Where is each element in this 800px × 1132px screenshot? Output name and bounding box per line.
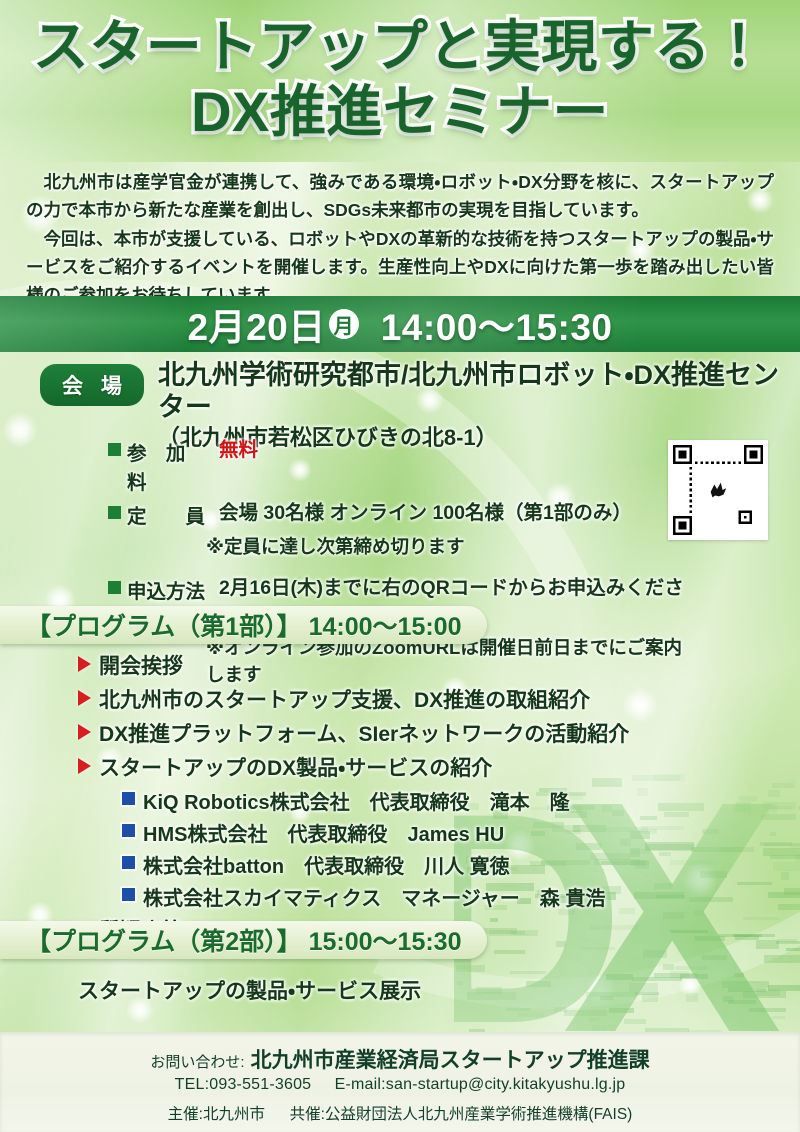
dx-pixel: [763, 802, 796, 809]
dx-pixel: [670, 860, 717, 865]
program-2-heading: 【プログラム（第2部）】 15:00〜15:30: [0, 921, 487, 959]
dx-pixel: [733, 804, 777, 813]
dx-pixel: [768, 985, 800, 992]
dx-pixel: [728, 1000, 756, 1004]
dx-pixel: [656, 895, 686, 898]
footer-contact-org: 北九州市産業経済局スタートアップ推進課: [251, 1044, 650, 1074]
square-bullet-icon: [122, 856, 135, 869]
dx-pixel: [494, 950, 525, 954]
dx-pixel: [635, 860, 649, 869]
dx-pixel: [637, 788, 648, 797]
dx-pixel: [735, 935, 759, 939]
dx-pixel: [695, 936, 724, 941]
detail-value-capacity: 会場 30名様 オンライン 100名様（第1部のみ）: [219, 500, 632, 528]
detail-row-capacity: 定 員 会場 30名様 オンライン 100名様（第1部のみ）: [108, 500, 688, 529]
dx-pixel: [723, 996, 734, 1002]
dx-pixel: [606, 974, 633, 980]
dx-pixel: [694, 910, 704, 916]
poster-header: スタートアップと実現する！ DX推進セミナー: [0, 0, 800, 162]
footer-cohost: 共催:公益財団法人北九州産業学術推進機構(FAIS): [290, 1106, 633, 1123]
venue-name: 北九州学術研究都市/北九州市ロボット・DX推進センター: [158, 360, 800, 424]
program-item-label: DX推進プラットフォーム、SIerネットワークの活動紹介: [99, 718, 629, 748]
dx-pixel: [720, 847, 754, 852]
sparkle: [678, 973, 702, 997]
dx-pixel: [739, 796, 757, 801]
triangle-marker-icon: [78, 656, 91, 672]
dx-pixel: [702, 955, 726, 960]
dx-pixel: [624, 1019, 646, 1024]
dx-pixel: [764, 955, 800, 963]
square-bullet-icon: [108, 581, 121, 594]
dx-pixel: [743, 991, 786, 998]
dx-pixel: [663, 964, 674, 970]
title-line-1: スタートアップと実現する！: [0, 0, 800, 75]
dx-pixel: [743, 917, 779, 920]
speaker-item: 株式会社batton 代表取締役 川人 寛徳: [122, 850, 629, 879]
program-item-label: 北九州市のスタートアップ支援、DX推進の取組紹介: [99, 684, 590, 714]
dx-pixel: [787, 779, 796, 783]
dx-pixel: [629, 983, 658, 992]
dx-pixel: [659, 852, 671, 855]
dx-pixel: [457, 981, 463, 985]
dx-pixel: [689, 897, 733, 902]
footer-host: 主催:北九州市: [168, 1106, 265, 1123]
intro-paragraph-1: 北九州市は産学官金が連携して、強みである環境・ロボット・DX分野を核に、スタート…: [26, 168, 774, 225]
program-item: スタートアップのDX製品・サービスの紹介: [78, 752, 629, 782]
square-bullet-icon: [108, 443, 121, 456]
qr-code[interactable]: [668, 440, 768, 540]
dx-pixel: [664, 812, 689, 817]
program-item-label: スタートアップのDX製品・サービスの紹介: [99, 752, 492, 782]
footer-tel: TEL:093-551-3605: [175, 1076, 312, 1093]
dx-pixel: [773, 862, 800, 871]
venue-badge: 会 場: [40, 364, 144, 406]
qr-code-image[interactable]: [673, 445, 763, 535]
footer-organizers: 主催:北九州市 共催:公益財団法人北九州産業学術推進機構(FAIS): [0, 1102, 800, 1124]
dx-pixel: [761, 814, 796, 819]
program-item: DX推進プラットフォーム、SIerネットワークの活動紹介: [78, 718, 629, 748]
dx-pixel: [609, 1008, 633, 1013]
dx-pixel: [772, 783, 795, 788]
speaker-label: 株式会社batton 代表取締役 川人 寛徳: [143, 850, 510, 879]
square-bullet-icon: [122, 888, 135, 901]
dx-pixel: [764, 806, 792, 810]
dx-pixel: [756, 940, 779, 949]
speaker-item: KiQ Robotics株式会社 代表取締役 滝本 隆: [122, 786, 629, 815]
dx-pixel: [456, 965, 485, 972]
dx-pixel: [670, 930, 708, 933]
speaker-list: KiQ Robotics株式会社 代表取締役 滝本 隆 HMS株式会社 代表取締…: [122, 786, 629, 911]
dx-pixel: [642, 994, 658, 1001]
dx-pixel: [645, 844, 695, 852]
dx-pixel: [630, 848, 639, 857]
speaker-item: 株式会社スカイマティクス マネージャー 森 貴浩: [122, 882, 629, 911]
dx-pixel: [506, 1008, 530, 1011]
bird-icon: [707, 479, 729, 501]
detail-row-fee: 参 加 料 無料: [108, 437, 688, 495]
dx-pixel: [658, 803, 704, 811]
dx-pixel: [686, 993, 698, 1002]
dx-pixel: [632, 977, 682, 981]
footer-contact-line: お問い合わせ: 北九州市産業経済局スタートアップ推進課: [0, 1032, 800, 1074]
program-item: 北九州市のスタートアップ支援、DX推進の取組紹介: [78, 684, 629, 714]
dx-pixel: [670, 971, 689, 979]
footer: お問い合わせ: 北九州市産業経済局スタートアップ推進課 TEL:093-551-…: [0, 1032, 800, 1132]
dx-pixel: [756, 989, 780, 996]
dx-pixel: [702, 829, 719, 834]
dx-pixel: [645, 842, 693, 851]
dx-pixel: [634, 892, 685, 899]
triangle-marker-icon: [78, 758, 91, 774]
triangle-marker-icon: [78, 724, 91, 740]
dx-pixel: [770, 832, 776, 836]
date-banner-text: 2月20日 月 14:00〜15:30: [188, 297, 613, 351]
dx-pixel: [734, 973, 744, 977]
dx-pixel: [467, 992, 517, 1000]
dx-pixel: [635, 992, 658, 995]
square-bullet-icon: [122, 824, 135, 837]
dx-pixel: [586, 992, 638, 997]
sparkle: [584, 974, 616, 1006]
detail-note-capacity: ※定員に達し次第締め切ります: [206, 534, 688, 561]
dx-pixel: [772, 1016, 785, 1020]
dx-pixel: [680, 974, 708, 979]
dx-pixel: [510, 971, 546, 974]
dx-pixel: [691, 847, 743, 852]
dx-pixel: [518, 1012, 544, 1016]
dx-pixel: [778, 904, 800, 909]
dx-pixel: [600, 996, 613, 1000]
title-line-2: DX推進セミナー: [0, 75, 800, 140]
program-item: 開会挨拶: [78, 650, 629, 680]
page-title: スタートアップと実現する！ DX推進セミナー: [0, 0, 800, 140]
dx-pixel: [781, 872, 789, 880]
dx-pixel: [564, 1010, 607, 1016]
qr-center-logo: [705, 477, 731, 503]
dx-pixel: [592, 1026, 608, 1030]
dx-pixel: [643, 950, 667, 958]
dx-pixel: [476, 987, 501, 994]
dx-pixel: [763, 848, 800, 855]
dx-pixel: [778, 939, 796, 943]
event-month-day: 2月20日: [188, 297, 326, 351]
square-bullet-icon: [108, 506, 121, 519]
dx-pixel: [590, 1018, 598, 1022]
dx-pixel: [748, 813, 770, 817]
intro-text: 北九州市は産学官金が連携して、強みである環境・ロボット・DX分野を核に、スタート…: [26, 168, 774, 310]
program-item-label: 開会挨拶: [99, 650, 183, 680]
dx-pixel: [554, 1007, 568, 1012]
square-bullet-icon: [122, 792, 135, 805]
dx-pixel: [640, 816, 657, 820]
dx-pixel: [789, 844, 800, 849]
dx-pixel: [718, 934, 762, 937]
dx-pixel: [776, 941, 800, 944]
speaker-label: KiQ Robotics株式会社 代表取締役 滝本 隆: [143, 786, 570, 815]
dx-pixel: [749, 1008, 785, 1012]
dx-pixel: [700, 871, 727, 878]
dx-pixel: [764, 843, 800, 847]
dx-pixel: [631, 849, 650, 854]
footer-email[interactable]: E-mail:san-startup@city.kitakyushu.lg.jp: [335, 1076, 626, 1093]
triangle-marker-icon: [78, 690, 91, 706]
dx-pixel: [631, 860, 646, 866]
sparkle: [682, 862, 718, 898]
dx-pixel: [641, 826, 684, 830]
speaker-item: HMS株式会社 代表取締役 James HU: [122, 818, 629, 847]
dx-pixel: [654, 973, 698, 978]
dx-pixel: [632, 775, 680, 781]
dx-pixel: [786, 948, 800, 951]
dx-pixel: [784, 888, 800, 895]
date-banner: 2月20日 月 14:00〜15:30: [0, 296, 800, 352]
speaker-label: 株式会社スカイマティクス マネージャー 森 貴浩: [143, 882, 605, 911]
detail-label: 定 員: [127, 500, 219, 529]
dx-pixel: [654, 774, 685, 781]
dx-pixel: [654, 883, 673, 888]
footer-contact-details: TEL:093-551-3605 E-mail:san-startup@city…: [0, 1076, 800, 1094]
dx-pixel: [737, 882, 772, 885]
dx-pixel: [768, 790, 781, 797]
program-2-body: スタートアップの製品・サービス展示: [78, 975, 421, 1005]
program-1-list: 開会挨拶 北九州市のスタートアップ支援、DX推進の取組紹介 DX推進プラットフォ…: [78, 650, 629, 949]
footer-contact-label: お問い合わせ:: [150, 1051, 244, 1072]
dx-pixel: [736, 802, 751, 811]
dx-pixel: [768, 892, 800, 898]
event-time: 14:00〜15:30: [381, 297, 613, 351]
dx-pixel: [675, 966, 707, 970]
dx-pixel: [630, 831, 650, 839]
dx-pixel: [728, 988, 766, 992]
dx-pixel: [733, 934, 774, 937]
detail-label: 申込方法: [127, 575, 219, 604]
dx-pixel: [639, 829, 658, 834]
speaker-label: HMS株式会社 代表取締役 James HU: [143, 818, 504, 847]
dx-pixel: [760, 842, 792, 846]
program-1-heading: 【プログラム（第1部）】 14:00〜15:00: [0, 606, 487, 644]
detail-value-fee: 無料: [219, 437, 258, 465]
event-weekday-badge: 月: [329, 309, 359, 339]
dx-pixel: [722, 981, 769, 988]
dx-pixel: [795, 854, 800, 862]
dx-pixel: [663, 912, 684, 919]
dx-pixel: [770, 855, 800, 859]
detail-label: 参 加 料: [127, 437, 219, 495]
dx-pixel: [526, 981, 551, 987]
